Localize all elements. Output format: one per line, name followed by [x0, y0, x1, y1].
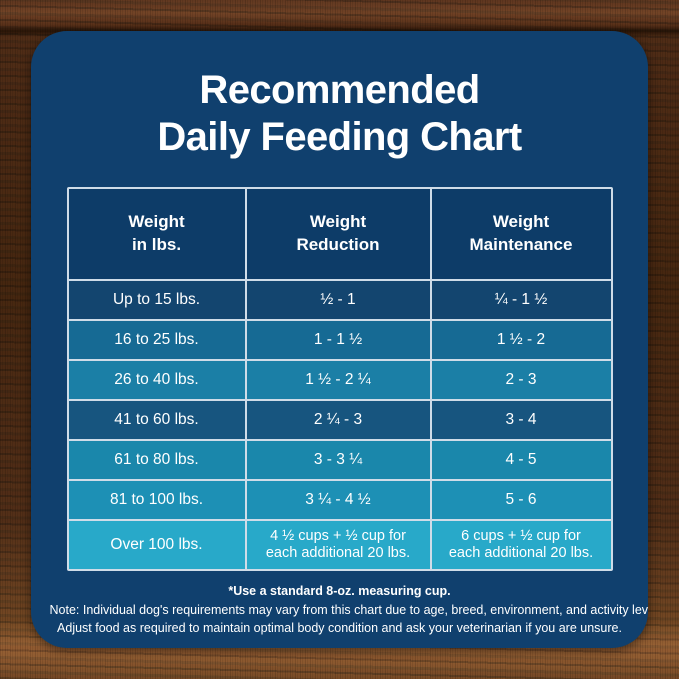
table-row: 16 to 25 lbs. 1 - 1 ½ 1 ½ - 2: [69, 321, 611, 359]
cell-maintenance: ¼ - 1 ½: [432, 281, 611, 319]
cell-reduction: 2 ¼ - 3: [247, 401, 430, 439]
column-header-weight-maintenance: Weight Maintenance: [432, 189, 611, 279]
cell-maintenance: 5 - 6: [432, 481, 611, 519]
cell-maintenance: 4 - 5: [432, 441, 611, 479]
page-title-line-1: Recommended: [70, 67, 610, 114]
cell-reduction: 1 - 1 ½: [247, 321, 430, 359]
column-header-weight-reduction: Weight Reduction: [247, 189, 430, 279]
cell-reduction: 4 ½ cups + ½ cup for each additional 20 …: [247, 521, 430, 569]
table-header-row: Weight in lbs. Weight Reduction Weight M…: [69, 189, 611, 279]
cell-reduction: 1 ½ - 2 ¼: [247, 361, 430, 399]
footnote-measuring-cup: *Use a standard 8-oz. measuring cup.: [50, 582, 630, 601]
feeding-chart-card: Recommended Daily Feeding Chart Weight i…: [31, 31, 648, 648]
table-row: 41 to 60 lbs. 2 ¼ - 3 3 - 4: [69, 401, 611, 439]
table-row: 26 to 40 lbs. 1 ½ - 2 ¼ 2 - 3: [69, 361, 611, 399]
table-row: Over 100 lbs. 4 ½ cups + ½ cup for each …: [69, 521, 611, 569]
footnotes: *Use a standard 8-oz. measuring cup. Not…: [50, 582, 630, 637]
cell-maintenance: 1 ½ - 2: [432, 321, 611, 359]
cell-reduction: 3 - 3 ¼: [247, 441, 430, 479]
cell-weight: Up to 15 lbs.: [69, 281, 245, 319]
column-header-weight: Weight in lbs.: [69, 189, 245, 279]
table-row: 61 to 80 lbs. 3 - 3 ¼ 4 - 5: [69, 441, 611, 479]
page-title: Recommended Daily Feeding Chart: [70, 67, 610, 161]
cell-maintenance: 2 - 3: [432, 361, 611, 399]
cell-weight: Over 100 lbs.: [69, 521, 245, 569]
cell-weight: 61 to 80 lbs.: [69, 441, 245, 479]
cell-maintenance: 3 - 4: [432, 401, 611, 439]
feeding-chart-table: Weight in lbs. Weight Reduction Weight M…: [67, 187, 613, 571]
page-title-line-2: Daily Feeding Chart: [70, 114, 610, 161]
table-row: Up to 15 lbs. ½ - 1 ¼ - 1 ½: [69, 281, 611, 319]
cell-weight: 16 to 25 lbs.: [69, 321, 245, 359]
cell-reduction: 3 ¼ - 4 ½: [247, 481, 430, 519]
footnote-note-line-2: Adjust food as required to maintain opti…: [50, 619, 630, 637]
cell-maintenance: 6 cups + ½ cup for each additional 20 lb…: [432, 521, 611, 569]
footnote-note-line-1: Note: Individual dog's requirements may …: [50, 601, 630, 619]
cell-weight: 81 to 100 lbs.: [69, 481, 245, 519]
cell-reduction: ½ - 1: [247, 281, 430, 319]
table-row: 81 to 100 lbs. 3 ¼ - 4 ½ 5 - 6: [69, 481, 611, 519]
cell-weight: 26 to 40 lbs.: [69, 361, 245, 399]
cell-weight: 41 to 60 lbs.: [69, 401, 245, 439]
